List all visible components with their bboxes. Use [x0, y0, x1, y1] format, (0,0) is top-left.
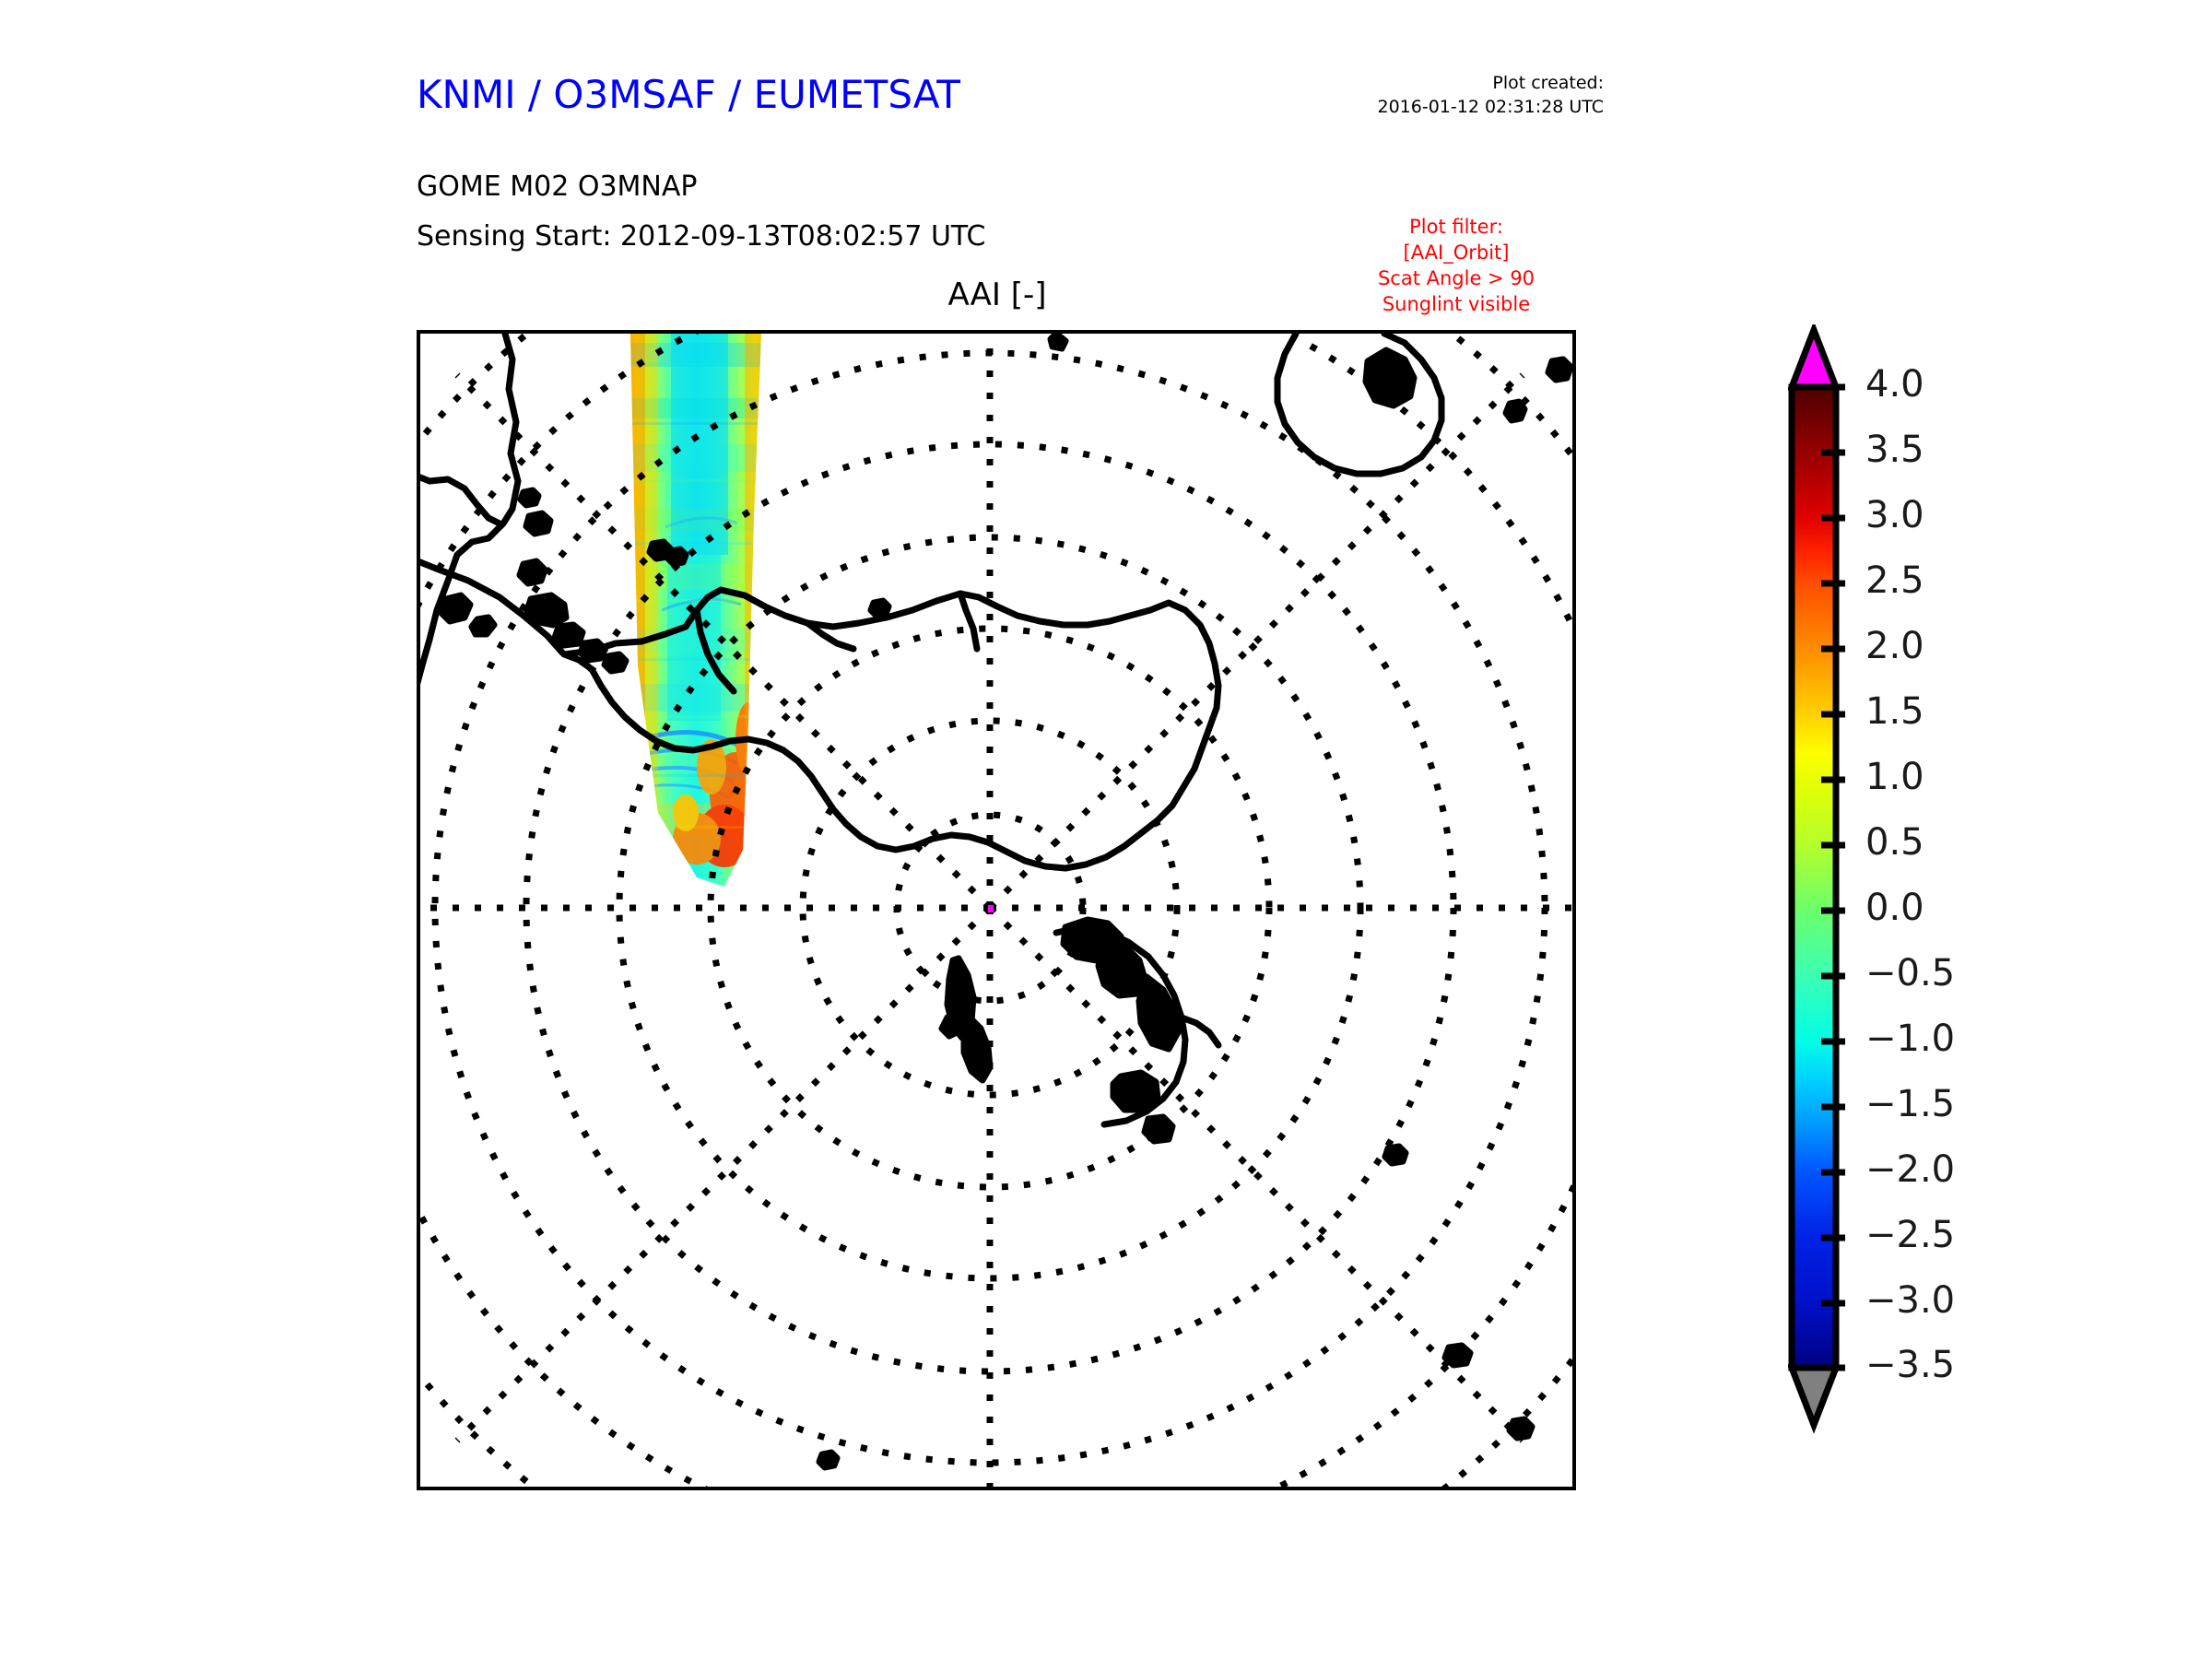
graticule-longitude-radials — [420, 334, 1572, 1487]
dataset-name: GOME M02 O3MNAP — [417, 171, 697, 203]
colorbar: 4.0 3.5 3.0 2.5 2.0 1.5 1.0 0.5 0.0 −0.5… — [1788, 324, 2157, 1495]
plot-filter-label: Plot filter: — [1309, 215, 1604, 241]
plot-filter-name: [AAI_Orbit] — [1309, 241, 1604, 266]
brand-title: KNMI / O3MSAF / EUMETSAT — [417, 72, 960, 117]
colorbar-label-14: −3.0 — [1865, 1282, 1955, 1319]
colorbar-canvas — [1788, 324, 2157, 1495]
colorbar-label-10: −1.0 — [1865, 1020, 1955, 1057]
sensing-start: Sensing Start: 2012-09-13T08:02:57 UTC — [417, 220, 985, 253]
colorbar-under-arrow — [1792, 1368, 1836, 1425]
colorbar-label-6: 1.0 — [1865, 759, 1924, 795]
colorbar-gradient — [1792, 387, 1836, 1368]
plot-title: AAI [-] — [417, 276, 1578, 313]
colorbar-label-13: −2.5 — [1865, 1217, 1955, 1253]
colorbar-label-15: −3.5 — [1865, 1347, 1955, 1383]
colorbar-label-7: 0.5 — [1865, 824, 1924, 861]
plot-created-block: Plot created: 2016-01-12 02:31:28 UTC — [1318, 72, 1604, 119]
coastlines — [420, 334, 1571, 1467]
colorbar-label-12: −2.0 — [1865, 1151, 1955, 1188]
colorbar-label-2: 3.0 — [1865, 497, 1924, 534]
map-canvas — [420, 334, 1572, 1487]
colorbar-label-0: 4.0 — [1865, 366, 1924, 403]
pole-marker-pixel — [988, 905, 994, 912]
colorbar-label-11: −1.5 — [1865, 1086, 1955, 1123]
colorbar-label-9: −0.5 — [1865, 955, 1955, 992]
plot-created-value: 2016-01-12 02:31:28 UTC — [1318, 96, 1604, 120]
plot-page: KNMI / O3MSAF / EUMETSAT Plot created: 2… — [0, 0, 2212, 1659]
colorbar-label-5: 1.5 — [1865, 693, 1924, 730]
colorbar-label-4: 2.0 — [1865, 628, 1924, 665]
colorbar-label-3: 2.5 — [1865, 562, 1924, 599]
colorbar-label-8: 0.0 — [1865, 889, 1924, 926]
map-plot-area — [417, 330, 1576, 1490]
colorbar-label-1: 3.5 — [1865, 431, 1924, 468]
plot-created-label: Plot created: — [1318, 72, 1604, 96]
colorbar-over-arrow — [1792, 330, 1836, 387]
